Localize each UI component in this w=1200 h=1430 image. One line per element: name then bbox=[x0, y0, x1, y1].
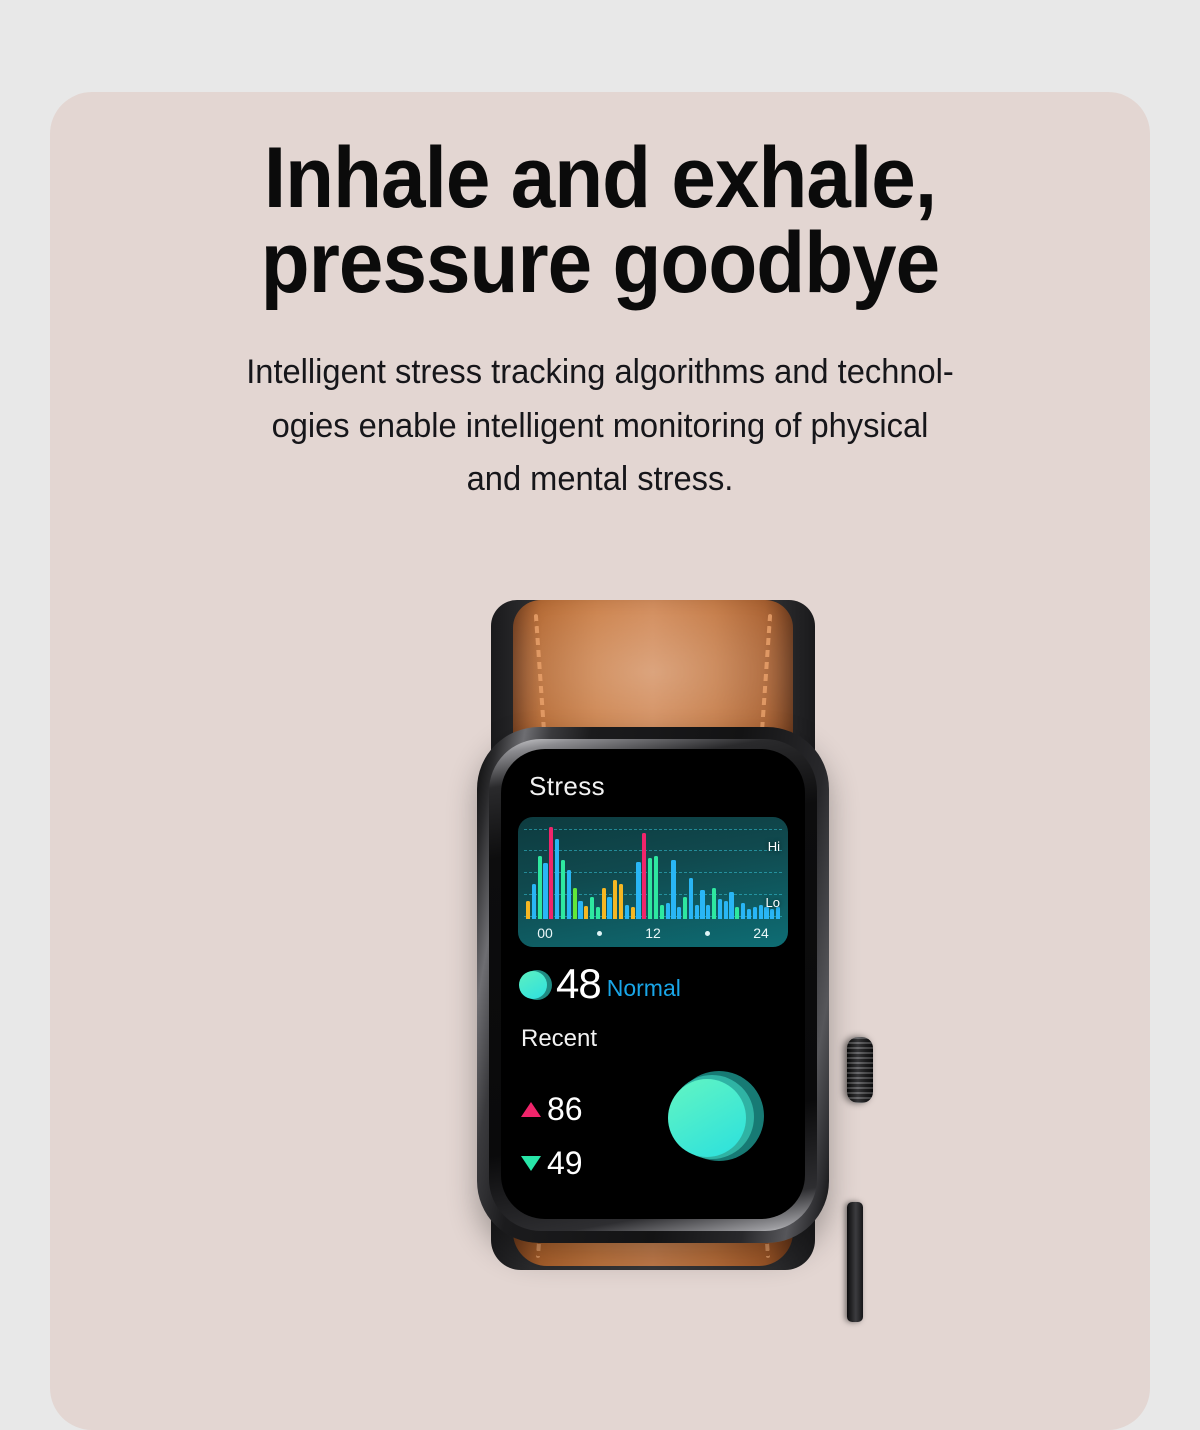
chart-bar bbox=[631, 907, 635, 919]
chart-bar bbox=[584, 906, 588, 919]
chart-bar bbox=[770, 909, 774, 919]
chart-bar bbox=[642, 833, 646, 919]
chart-bar bbox=[689, 878, 693, 919]
chart-x-tick: 12 bbox=[626, 925, 680, 941]
recent-section-title: Recent bbox=[521, 1025, 597, 1053]
chart-bar bbox=[759, 905, 763, 919]
chart-bar bbox=[747, 909, 751, 919]
chart-bar bbox=[543, 863, 547, 919]
crown-icon[interactable] bbox=[847, 1037, 873, 1103]
chart-bar bbox=[555, 839, 559, 919]
chart-bar bbox=[578, 901, 582, 919]
stress-chart[interactable]: Hi Lo 001224 bbox=[518, 817, 788, 947]
chart-bar bbox=[695, 905, 699, 919]
stress-score-state: Normal bbox=[607, 975, 681, 1005]
subtitle-line-2: ogies enable intelligent monitoring of p… bbox=[163, 400, 1037, 454]
chart-bar bbox=[753, 907, 757, 919]
chart-axis-label-low: Lo bbox=[766, 895, 780, 910]
recent-low-row: 49 bbox=[521, 1145, 583, 1182]
chart-plot-area bbox=[526, 827, 780, 919]
promo-card: Inhale and exhale, pressure goodbye Inte… bbox=[50, 92, 1150, 1430]
chart-bar bbox=[567, 870, 571, 919]
recent-high-row: 86 bbox=[521, 1091, 583, 1128]
chart-bar bbox=[590, 897, 594, 919]
chart-bar bbox=[718, 899, 722, 919]
stress-level-dot-icon bbox=[519, 968, 552, 1001]
chart-bar bbox=[607, 897, 611, 919]
chart-x-axis: 001224 bbox=[518, 922, 788, 944]
chart-x-tick bbox=[680, 931, 734, 936]
recent-high-value: 86 bbox=[547, 1091, 583, 1128]
headline-line-1: Inhale and exhale, bbox=[89, 136, 1112, 221]
chart-bar bbox=[654, 856, 658, 919]
chart-bar bbox=[712, 888, 716, 919]
chart-bar bbox=[526, 901, 530, 919]
chart-bar bbox=[683, 897, 687, 919]
headline-line-2: pressure goodbye bbox=[89, 221, 1112, 306]
chart-x-tick bbox=[572, 931, 626, 936]
chart-bar bbox=[648, 858, 652, 919]
chart-x-tick: 00 bbox=[518, 925, 572, 941]
chart-bar bbox=[549, 827, 553, 919]
watch-screen[interactable]: Stress Hi Lo 001224 bbox=[501, 749, 805, 1219]
recent-low-value: 49 bbox=[547, 1145, 583, 1182]
chart-bar bbox=[724, 901, 728, 919]
page-title: Inhale and exhale, pressure goodbye bbox=[89, 136, 1112, 306]
triangle-down-icon bbox=[521, 1156, 541, 1171]
chart-bar bbox=[706, 905, 710, 919]
chart-bar bbox=[532, 884, 536, 919]
chart-bar bbox=[729, 892, 733, 919]
chart-bar bbox=[671, 860, 675, 919]
orb-inner bbox=[668, 1079, 746, 1157]
watch-case: Stress Hi Lo 001224 bbox=[477, 727, 829, 1243]
chart-bar bbox=[636, 862, 640, 919]
chart-bar bbox=[573, 888, 577, 919]
triangle-up-icon bbox=[521, 1102, 541, 1117]
chart-bar bbox=[741, 903, 745, 919]
chart-bar bbox=[700, 890, 704, 919]
subtitle: Intelligent stress tracking algorithms a… bbox=[163, 346, 1037, 507]
breathing-orb[interactable] bbox=[668, 1071, 764, 1167]
side-button-icon[interactable] bbox=[847, 1202, 863, 1322]
chart-bar bbox=[538, 856, 542, 919]
chart-bar bbox=[613, 880, 617, 919]
chart-bar bbox=[677, 907, 681, 919]
subtitle-line-1: Intelligent stress tracking algorithms a… bbox=[163, 346, 1037, 400]
screen-title: Stress bbox=[529, 771, 605, 802]
dot-core bbox=[519, 971, 547, 999]
smartwatch-product-image: Stress Hi Lo 001224 bbox=[455, 522, 875, 1292]
chart-bar bbox=[666, 903, 670, 919]
chart-x-tick: 24 bbox=[734, 925, 788, 941]
chart-bar bbox=[660, 905, 664, 919]
chart-bar bbox=[596, 907, 600, 919]
chart-bar bbox=[561, 860, 565, 919]
chart-bar bbox=[625, 905, 629, 919]
stress-score-value: 48 bbox=[556, 963, 601, 1005]
chart-axis-label-high: Hi bbox=[768, 839, 780, 854]
chart-bar bbox=[735, 907, 739, 919]
chart-bar bbox=[602, 888, 606, 919]
chart-bar bbox=[619, 884, 623, 919]
stress-score-row: 48 Normal bbox=[519, 963, 681, 1005]
subtitle-line-3: and mental stress. bbox=[163, 453, 1037, 507]
